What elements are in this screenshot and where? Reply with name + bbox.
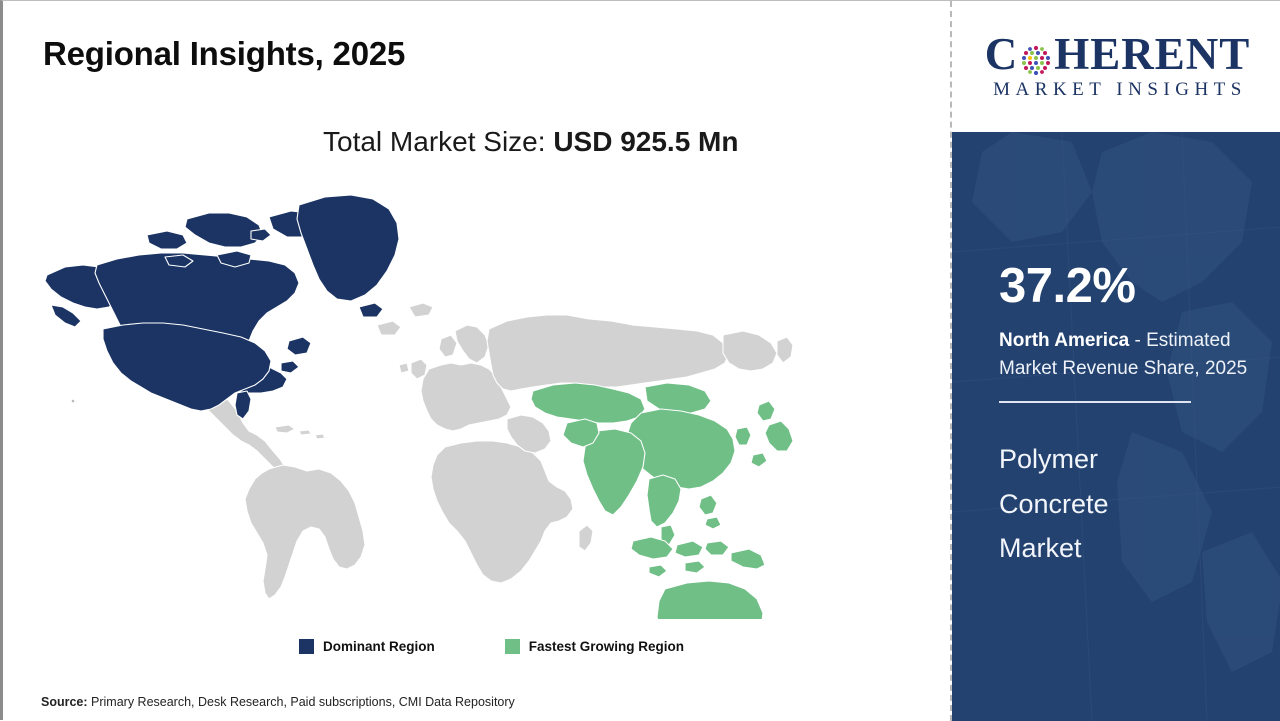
legend-swatch-fastest-growing bbox=[505, 639, 520, 654]
page-title: Regional Insights, 2025 bbox=[43, 35, 405, 73]
world-map bbox=[37, 179, 827, 619]
legend-swatch-dominant bbox=[299, 639, 314, 654]
source-label: Source: bbox=[41, 695, 88, 709]
logo-letter-c: C bbox=[985, 32, 1019, 77]
stat-content: 37.2% North America - Estimated Market R… bbox=[999, 262, 1261, 571]
legend-item-fastest-growing: Fastest Growing Region bbox=[505, 639, 684, 654]
infographic-canvas: Regional Insights, 2025 Total Market Siz… bbox=[0, 0, 1280, 720]
stat-panel: 37.2% North America - Estimated Market R… bbox=[952, 132, 1280, 721]
stat-description: North America - Estimated Market Revenue… bbox=[999, 327, 1261, 382]
logo-tagline: MARKET INSIGHTS bbox=[988, 79, 1247, 101]
legend-label-fastest-growing: Fastest Growing Region bbox=[529, 639, 684, 654]
market-name-line-2: Concrete bbox=[999, 482, 1261, 527]
source-note: Source: Primary Research, Desk Research,… bbox=[41, 695, 515, 709]
stat-percentage: 37.2% bbox=[999, 262, 1261, 311]
globe-icon bbox=[1019, 40, 1053, 74]
source-text: Primary Research, Desk Research, Paid su… bbox=[88, 695, 515, 709]
brand-logo: C bbox=[952, 1, 1280, 132]
market-name-line-1: Polymer bbox=[999, 437, 1261, 482]
stat-divider-rule bbox=[999, 401, 1191, 403]
map-legend: Dominant Region Fastest Growing Region bbox=[299, 639, 684, 654]
logo-wordmark-rest: HERENT bbox=[1054, 32, 1250, 77]
map-region-dominant bbox=[45, 195, 399, 419]
market-size-label: Total Market Size: bbox=[323, 126, 546, 157]
total-market-size: Total Market Size: USD 925.5 Mn bbox=[323, 126, 738, 158]
stat-region-name: North America bbox=[999, 330, 1129, 351]
legend-item-dominant: Dominant Region bbox=[299, 639, 435, 654]
right-panel: C bbox=[952, 1, 1280, 721]
market-name-line-3: Market bbox=[999, 526, 1261, 571]
legend-label-dominant: Dominant Region bbox=[323, 639, 435, 654]
market-report-name: Polymer Concrete Market bbox=[999, 437, 1261, 571]
left-content-pane: Regional Insights, 2025 Total Market Siz… bbox=[3, 1, 952, 721]
logo-wordmark: C bbox=[985, 32, 1251, 77]
map-region-fastest-growing bbox=[531, 383, 815, 619]
market-size-value: USD 925.5 Mn bbox=[553, 126, 738, 157]
